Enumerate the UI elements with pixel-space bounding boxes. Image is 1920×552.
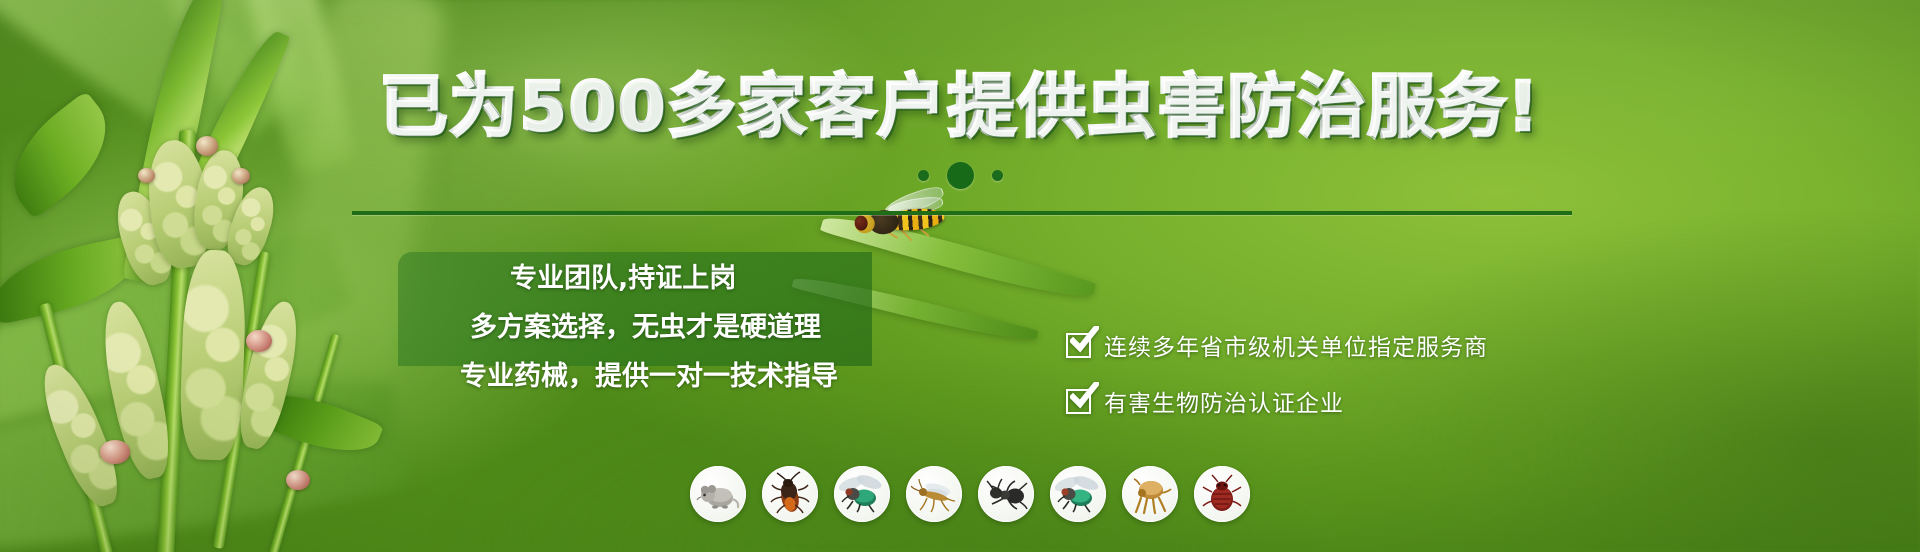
dot-large-icon bbox=[947, 162, 974, 189]
credential-bullets: 连续多年省市级机关单位指定服务商 有害生物防治认证企业 bbox=[1066, 328, 1488, 418]
divider-rule bbox=[352, 211, 1572, 215]
dot-small-icon bbox=[918, 170, 929, 181]
banner-headline: 已为500多家客户提供虫害防治服务! bbox=[0, 74, 1920, 142]
pest-icon-cockroach[interactable] bbox=[762, 466, 818, 522]
feature-line-3: 专业药械，提供一对一技术指导 bbox=[380, 354, 838, 393]
bullet-item: 连续多年省市级机关单位指定服务商 bbox=[1066, 328, 1488, 362]
pest-icon-rat[interactable] bbox=[690, 466, 746, 522]
decorative-dots bbox=[0, 162, 1920, 189]
feature-line-2: 多方案选择，无虫才是硬道理 bbox=[380, 305, 821, 344]
banner-headline-text: 已为500多家客户提供虫害防治服务! bbox=[380, 74, 1541, 142]
features-panel-text: 专业团队,持证上岗 多方案选择，无虫才是硬道理 专业药械，提供一对一技术指导 bbox=[380, 256, 900, 393]
bullet-label-1: 连续多年省市级机关单位指定服务商 bbox=[1104, 328, 1488, 362]
bullet-label-2: 有害生物防治认证企业 bbox=[1104, 384, 1344, 418]
pest-icon-blowfly[interactable] bbox=[1050, 466, 1106, 522]
checkbox-checked-icon bbox=[1066, 333, 1091, 358]
feature-line-1: 专业团队,持证上岗 bbox=[380, 256, 736, 295]
dot-small-icon bbox=[992, 170, 1003, 181]
hero-banner: 已为500多家客户提供虫害防治服务! 专业团队,持证上岗 多方案选择，无虫才是硬… bbox=[0, 0, 1920, 552]
pest-icon-mosquito[interactable] bbox=[906, 466, 962, 522]
pest-icon-ant[interactable] bbox=[978, 466, 1034, 522]
checkbox-checked-icon bbox=[1066, 389, 1091, 414]
bullet-item: 有害生物防治认证企业 bbox=[1066, 384, 1488, 418]
pest-icon-bedbug[interactable] bbox=[1194, 466, 1250, 522]
pest-icon-row bbox=[690, 466, 1250, 522]
pest-icon-fly[interactable] bbox=[834, 466, 890, 522]
pest-icon-flea[interactable] bbox=[1122, 466, 1178, 522]
